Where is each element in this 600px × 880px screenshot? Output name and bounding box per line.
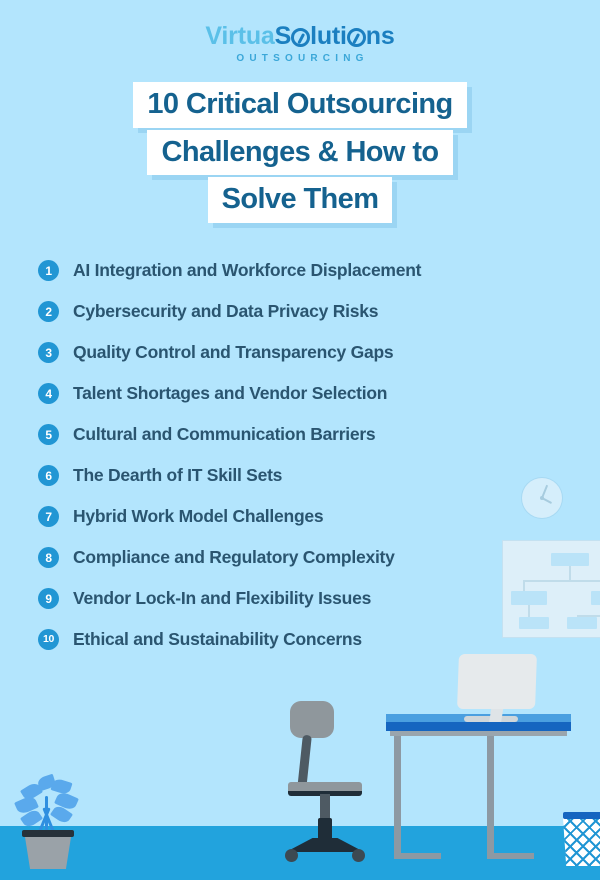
logo-o-key-icon-2	[347, 28, 366, 47]
chart-node-leaf-right	[567, 617, 597, 629]
logo-solutions-prefix: S	[275, 22, 291, 50]
wastebasket-rim	[563, 812, 600, 819]
list-item-number-badge: 6	[38, 465, 59, 486]
title-row-3: Solve Them	[0, 177, 600, 223]
list-item-label: The Dearth of IT Skill Sets	[73, 465, 282, 486]
list-item-number-badge: 7	[38, 506, 59, 527]
list-item-number-badge: 3	[38, 342, 59, 363]
title-line-1: 10 Critical Outsourcing	[133, 82, 466, 128]
wastebasket-mesh	[563, 818, 600, 866]
list-item-number-badge: 8	[38, 547, 59, 568]
list-item[interactable]: 7Hybrid Work Model Challenges	[38, 496, 570, 537]
list-item-number-badge: 5	[38, 424, 59, 445]
desk-surface-front	[386, 722, 571, 731]
logo-tagline: OUTSOURCING	[0, 53, 600, 64]
list-item-label: Talent Shortages and Vendor Selection	[73, 383, 387, 404]
list-item-number-badge: 10	[38, 629, 59, 650]
page-title: 10 Critical Outsourcing Challenges & How…	[0, 82, 600, 225]
list-item[interactable]: 4Talent Shortages and Vendor Selection	[38, 373, 570, 414]
chair-post-lower	[318, 818, 332, 840]
plant-pot-rim	[22, 830, 74, 837]
chair-caster-left	[285, 849, 298, 862]
title-line-2: Challenges & How to	[147, 130, 452, 176]
list-item-number-badge: 9	[38, 588, 59, 609]
list-item[interactable]: 10Ethical and Sustainability Concerns	[38, 619, 570, 660]
logo-o-key-icon	[291, 28, 310, 47]
title-row-1: 10 Critical Outsourcing	[0, 82, 600, 128]
chair-caster-right	[352, 849, 365, 862]
list-item-label: Vendor Lock-In and Flexibility Issues	[73, 588, 371, 609]
list-item[interactable]: 2Cybersecurity and Data Privacy Risks	[38, 291, 570, 332]
plant-pot-body	[25, 837, 71, 869]
wastebasket-icon	[563, 812, 600, 866]
desk-surface-lip	[390, 731, 567, 736]
logo-virtua-text: Virtua	[205, 22, 274, 50]
logo-wordmark: VirtuaSlutins	[0, 24, 600, 49]
monitor-screen	[457, 654, 537, 709]
logo-solutions-suffix: ns	[366, 22, 395, 50]
brand-logo: VirtuaSlutins OUTSOURCING	[0, 24, 600, 64]
list-item-label: Quality Control and Transparency Gaps	[73, 342, 393, 363]
chair-backrest	[290, 701, 334, 738]
list-item-number-badge: 4	[38, 383, 59, 404]
list-item[interactable]: 6The Dearth of IT Skill Sets	[38, 455, 570, 496]
desk-foot-right	[487, 853, 534, 859]
list-item-number-badge: 1	[38, 260, 59, 281]
list-item-label: Hybrid Work Model Challenges	[73, 506, 323, 527]
chart-node-right	[591, 591, 600, 605]
title-line-3: Solve Them	[208, 177, 393, 223]
list-item[interactable]: 1AI Integration and Workforce Displaceme…	[38, 250, 570, 291]
title-row-2: Challenges & How to	[0, 130, 600, 176]
list-item-label: Compliance and Regulatory Complexity	[73, 547, 395, 568]
list-item-number-badge: 2	[38, 301, 59, 322]
list-item-label: Ethical and Sustainability Concerns	[73, 629, 362, 650]
list-item-label: Cybersecurity and Data Privacy Risks	[73, 301, 378, 322]
list-item-label: Cultural and Communication Barriers	[73, 424, 375, 445]
infographic-poster: VirtuaSlutins OUTSOURCING 10 Critical Ou…	[0, 0, 600, 880]
desk-foot-left	[394, 853, 441, 859]
potted-plant-icon	[8, 772, 88, 862]
list-item[interactable]: 5Cultural and Communication Barriers	[38, 414, 570, 455]
desk-leg-right	[487, 736, 494, 859]
list-item[interactable]: 8Compliance and Regulatory Complexity	[38, 537, 570, 578]
challenge-list: 1AI Integration and Workforce Displaceme…	[38, 250, 570, 660]
logo-solutions-middle: luti	[310, 22, 347, 50]
list-item[interactable]: 3Quality Control and Transparency Gaps	[38, 332, 570, 373]
list-item-label: AI Integration and Workforce Displacemen…	[73, 260, 421, 281]
list-item[interactable]: 9Vendor Lock-In and Flexibility Issues	[38, 578, 570, 619]
desk-leg-left	[394, 736, 401, 859]
